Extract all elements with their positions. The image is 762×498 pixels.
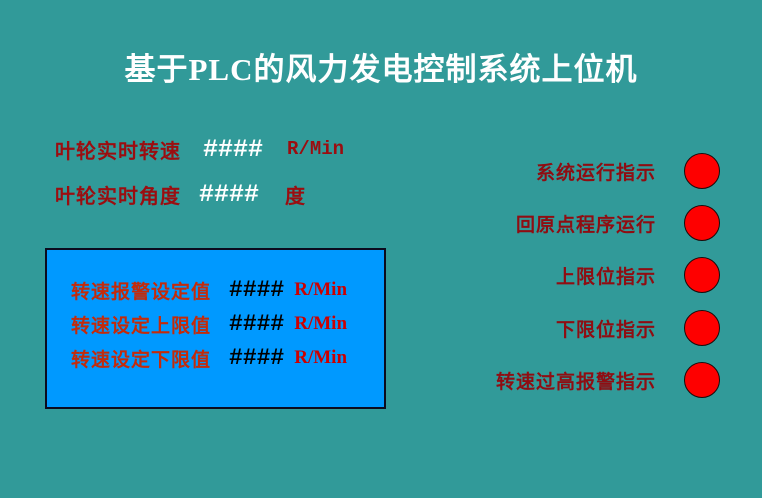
readout-value: #### [203, 135, 263, 164]
indicator-row: 回原点程序运行 [430, 204, 720, 242]
setting-unit: R/Min [294, 347, 347, 369]
indicator-row: 系统运行指示 [430, 152, 720, 190]
settings-panel: 转速报警设定值 #### R/Min 转速设定上限值 #### R/Min 转速… [45, 248, 386, 409]
readout-unit: R/Min [287, 138, 344, 160]
red-lamp-icon [684, 205, 720, 241]
setting-label: 转速设定下限值 [71, 345, 211, 372]
setting-row[interactable]: 转速设定下限值 #### R/Min [71, 345, 347, 371]
red-lamp-icon [684, 257, 720, 293]
setting-value-input[interactable]: #### [229, 345, 284, 371]
red-lamp-icon [684, 362, 720, 398]
indicator-label: 下限位指示 [556, 315, 656, 342]
indicator-label: 转速过高报警指示 [496, 367, 656, 394]
indicator-label: 回原点程序运行 [516, 210, 656, 237]
setting-label: 转速设定上限值 [71, 311, 211, 338]
setting-unit: R/Min [294, 313, 347, 335]
setting-row[interactable]: 转速设定上限值 #### R/Min [71, 311, 347, 337]
indicator-row: 上限位指示 [430, 256, 720, 294]
red-lamp-icon [684, 153, 720, 189]
readout-label: 叶轮实时转速 [55, 135, 181, 164]
page-title: 基于PLC的风力发电控制系统上位机 [0, 44, 762, 89]
setting-label: 转速报警设定值 [71, 277, 211, 304]
indicator-label: 上限位指示 [556, 262, 656, 289]
readout-rotor-speed: 叶轮实时转速 #### R/Min [55, 135, 344, 163]
hmi-screen: 基于PLC的风力发电控制系统上位机 叶轮实时转速 #### R/Min 叶轮实时… [0, 0, 762, 498]
indicator-row: 下限位指示 [430, 309, 720, 347]
setting-value-input[interactable]: #### [229, 311, 284, 337]
indicator-row: 转速过高报警指示 [430, 361, 720, 399]
readout-unit: 度 [285, 180, 305, 209]
setting-value-input[interactable]: #### [229, 277, 284, 303]
readout-value: #### [199, 180, 259, 209]
setting-row[interactable]: 转速报警设定值 #### R/Min [71, 277, 347, 303]
red-lamp-icon [684, 310, 720, 346]
indicator-label: 系统运行指示 [536, 158, 656, 185]
readout-label: 叶轮实时角度 [55, 180, 181, 209]
readout-rotor-angle: 叶轮实时角度 #### 度 [55, 180, 305, 208]
setting-unit: R/Min [294, 279, 347, 301]
